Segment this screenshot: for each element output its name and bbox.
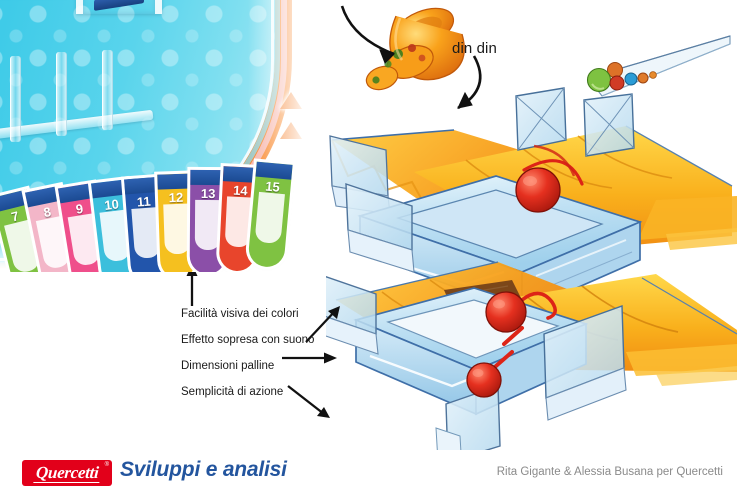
slot-inner [163, 204, 191, 255]
logo-wordmark: Quercetti [33, 464, 101, 483]
slot-number: 11 [125, 192, 162, 210]
registered-trademark-icon: ® [105, 462, 109, 468]
slot-lip [157, 173, 194, 189]
annotation-label-sound: Effetto sopresa con suono [181, 334, 314, 346]
concept-sketch [326, 0, 737, 450]
slot-inner [195, 200, 221, 250]
toy-board-photo: 789101112131415 [0, 0, 318, 272]
annotation-group: Facilità visiva dei colori Effetto sopre… [0, 258, 360, 423]
arrow-right-icon [282, 353, 337, 364]
slot-inner [255, 192, 285, 244]
annotation-label-colors: Facilità visiva dei colori [181, 308, 299, 320]
numbered-slot-fan: 789101112131415 [0, 166, 294, 272]
slot-inner [131, 207, 161, 259]
sound-label: din din [452, 40, 497, 57]
slot-number: 13 [190, 186, 226, 201]
slot-number: 12 [158, 189, 195, 205]
slot-lip [124, 176, 161, 194]
page-title: Sviluppi e analisi [120, 458, 287, 482]
annotation-label-simplicity: Semplicità di azione [181, 386, 283, 398]
page-root: 789101112131415 [0, 0, 737, 504]
quercetti-logo: Quercetti ® [22, 460, 112, 486]
slot-lip [190, 170, 226, 185]
footer: Quercetti ® Sviluppi e analisi Rita Giga… [0, 446, 737, 504]
sketch-drawing [326, 0, 737, 450]
arrow-diagonal-down-icon [288, 386, 330, 418]
curved-arrow-out-of-bell [458, 56, 480, 108]
credit-line: Rita Gigante & Alessia Busana per Querce… [497, 466, 723, 478]
annotation-label-ball-size: Dimensioni palline [181, 360, 274, 372]
curved-arrow-into-bell [342, 6, 394, 63]
